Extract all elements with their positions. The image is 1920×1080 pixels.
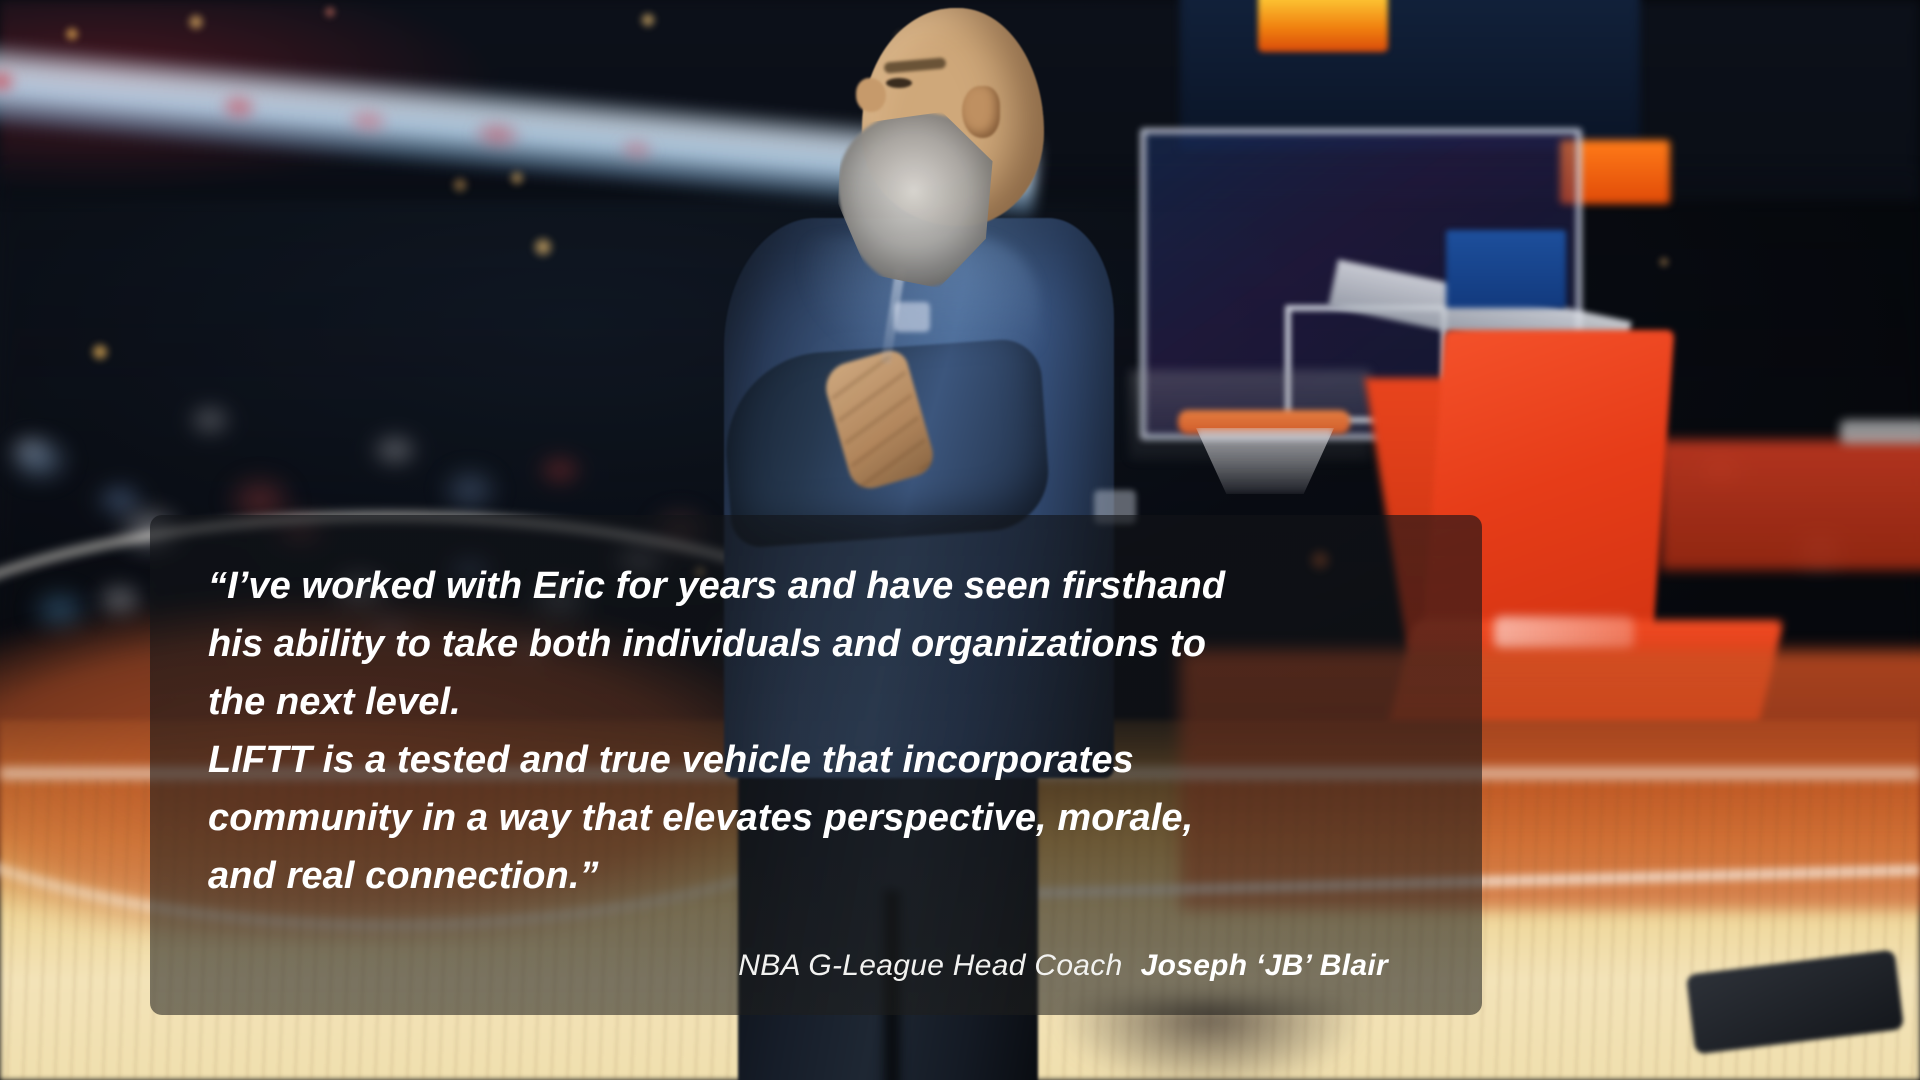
coach-chest-logo: [894, 302, 930, 332]
quote-line: the next level.: [208, 673, 1424, 731]
attribution-name: Joseph ‘JB’ Blair: [1141, 949, 1388, 983]
quote-line: LIFTT is a tested and true vehicle that …: [208, 731, 1424, 789]
quote-line: his ability to take both individuals and…: [208, 615, 1424, 673]
coach-eye: [886, 78, 912, 88]
quote-line: “I’ve worked with Eric for years and hav…: [208, 557, 1424, 615]
attribution: NBA G-League Head Coach Joseph ‘JB’ Blai…: [208, 949, 1424, 989]
testimonial-graphic: “I’ve worked with Eric for years and hav…: [0, 0, 1920, 1080]
attribution-role: NBA G-League Head Coach: [738, 949, 1122, 983]
quote-line: and real connection.”: [208, 847, 1424, 905]
quote-line: community in a way that elevates perspec…: [208, 789, 1424, 847]
coach-nose: [856, 78, 886, 112]
quote-text-block: “I’ve worked with Eric for years and hav…: [208, 557, 1424, 949]
testimonial-quote-panel: “I’ve worked with Eric for years and hav…: [150, 515, 1482, 1015]
coach-ear: [962, 86, 1000, 138]
